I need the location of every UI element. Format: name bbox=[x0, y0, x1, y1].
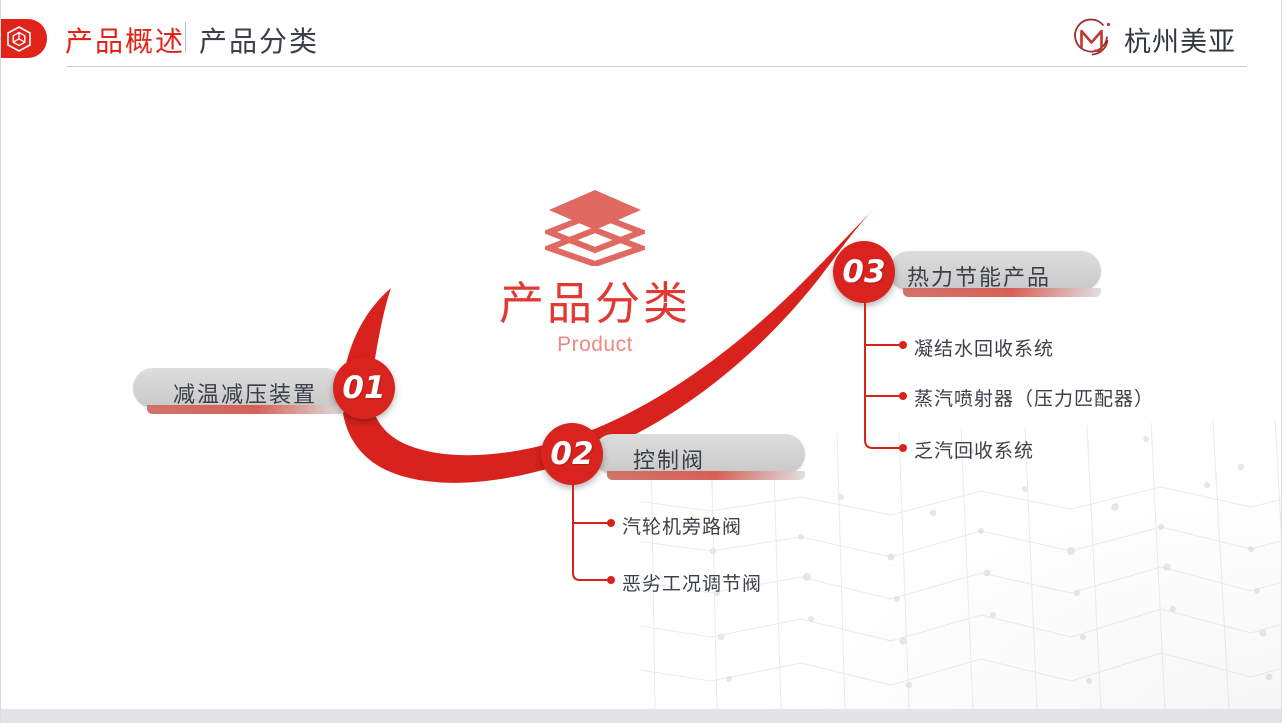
center-emblem: 产品分类 Product bbox=[469, 188, 721, 357]
slide-canvas: 产品概述 产品分类 杭州美亚 产品分类 Product bbox=[0, 0, 1282, 723]
circle-m-logo-icon bbox=[1069, 16, 1115, 62]
node-03-label: 热力节能产品 bbox=[907, 260, 1051, 292]
node-02-number-circle[interactable]: 02 bbox=[541, 423, 603, 485]
title-divider bbox=[185, 22, 186, 52]
background-mesh-pattern bbox=[641, 379, 1281, 709]
slide-header: 产品概述 产品分类 杭州美亚 bbox=[1, 0, 1281, 84]
node-01-label: 减温减压装置 bbox=[173, 377, 317, 409]
node-02-item-0: 汽轮机旁路阀 bbox=[622, 512, 742, 539]
hexagon-cube-icon bbox=[0, 19, 47, 58]
layers-icon bbox=[545, 188, 645, 266]
brand-logo: 杭州美亚 bbox=[1069, 16, 1236, 62]
node-03-item-2: 乏汽回收系统 bbox=[914, 436, 1034, 463]
node-02-branch-connector bbox=[561, 478, 631, 593]
center-subtitle: Product bbox=[469, 333, 721, 357]
brand-name: 杭州美亚 bbox=[1124, 20, 1236, 59]
node-03-number-circle[interactable]: 03 bbox=[833, 241, 895, 303]
header-rule bbox=[67, 66, 1247, 67]
node-02-number: 02 bbox=[550, 439, 593, 470]
node-02-label: 控制阀 bbox=[633, 443, 705, 475]
node-02-item-1: 恶劣工况调节阀 bbox=[622, 569, 762, 596]
center-title: 产品分类 bbox=[469, 280, 721, 327]
page-title: 产品概述 bbox=[65, 20, 185, 60]
node-03-number: 03 bbox=[842, 257, 885, 288]
page-subtitle: 产品分类 bbox=[199, 20, 319, 60]
bottom-bar bbox=[1, 709, 1281, 723]
node-03-item-0: 凝结水回收系统 bbox=[914, 334, 1054, 361]
red-swoosh-arc bbox=[1, 0, 1282, 723]
node-01-number: 01 bbox=[342, 373, 385, 404]
node-03-item-1: 蒸汽喷射器（压力匹配器） bbox=[914, 384, 1154, 411]
node-01-number-circle[interactable]: 01 bbox=[333, 357, 395, 419]
node-03-branch-connector bbox=[853, 296, 923, 461]
